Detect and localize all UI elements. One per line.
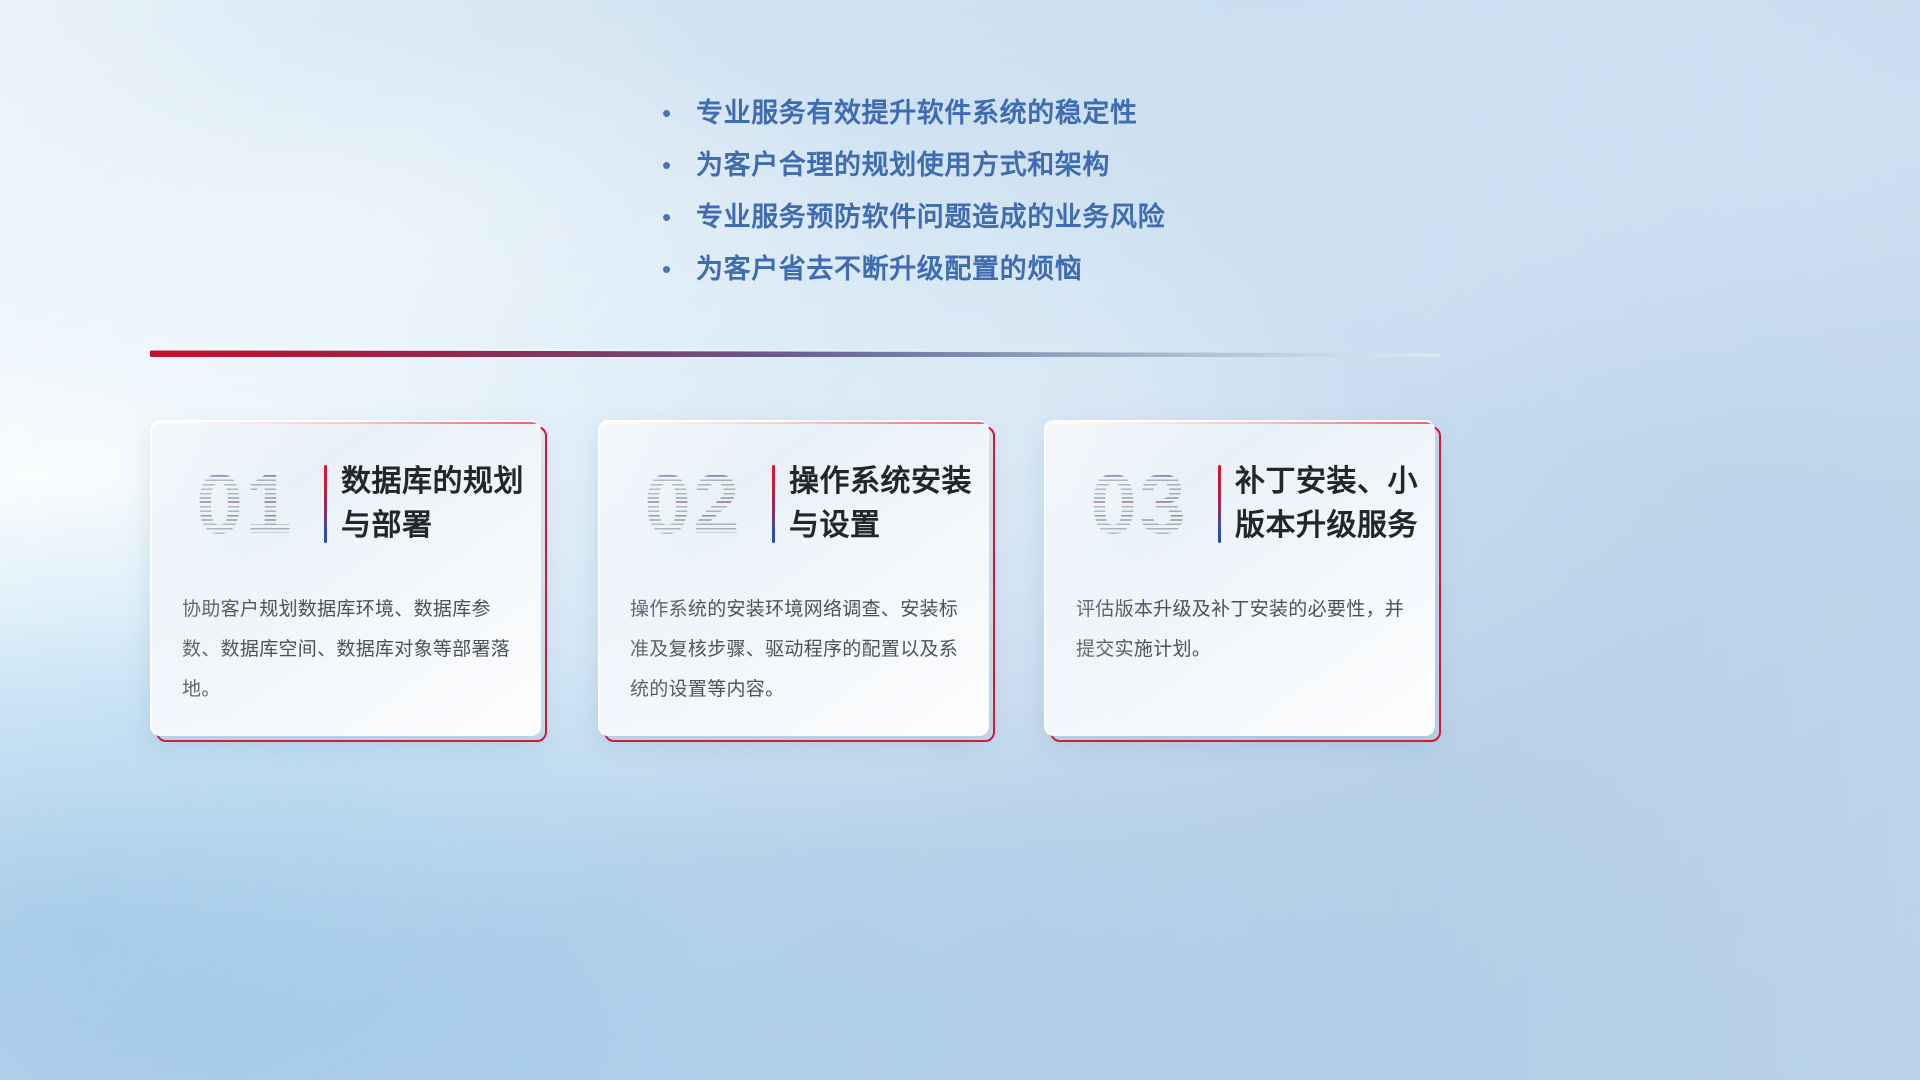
bullet-dot-icon: • (660, 248, 696, 290)
bullet-dot-icon: • (660, 196, 696, 238)
card-header: 01 01 数据库的规划与部署 (152, 444, 541, 564)
bullet-text: 为客户合理的规划使用方式和架构 (696, 144, 1110, 186)
card-description: 操作系统的安装环境网络调查、安装标准及复核步骤、驱动程序的配置以及系统的设置等内… (630, 590, 963, 710)
card-divider-bar (324, 465, 327, 543)
bullet-dot-icon: • (660, 144, 696, 186)
card-number: 01 (196, 462, 293, 546)
card-title: 操作系统安装与设置 (789, 460, 989, 548)
card-number-badge: 01 01 (170, 449, 320, 559)
card-surface: 03 03 补丁安装、小版本升级服务 评估版本升级及补丁安装的必要性，并提交实施… (1044, 420, 1435, 736)
card-number-badge: 03 03 (1064, 449, 1214, 559)
card-number: 03 (1090, 462, 1187, 546)
list-item: • 为客户合理的规划使用方式和架构 (660, 144, 1440, 196)
bullet-text: 为客户省去不断升级配置的烦恼 (696, 248, 1082, 290)
service-card-group: 01 01 数据库的规划与部署 协助客户规划数据库环境、数据库参数、数据库空间、… (150, 420, 1450, 750)
card-title: 补丁安装、小版本升级服务 (1235, 460, 1435, 548)
list-item: • 专业服务预防软件问题造成的业务风险 (660, 196, 1440, 248)
card-number-badge: 02 02 (618, 449, 768, 559)
card-divider-bar (772, 465, 775, 543)
divider-gradient-bar (150, 350, 1440, 357)
card-number: 02 (644, 462, 741, 546)
bullet-dot-icon: • (660, 92, 696, 134)
card-header: 02 02 操作系统安装与设置 (600, 444, 989, 564)
card-title: 数据库的规划与部署 (341, 460, 541, 548)
section-divider (150, 344, 1440, 366)
card-description: 协助客户规划数据库环境、数据库参数、数据库空间、数据库对象等部署落地。 (182, 590, 515, 710)
card-surface: 02 02 操作系统安装与设置 操作系统的安装环境网络调查、安装标准及复核步骤、… (598, 420, 989, 736)
list-item: • 为客户省去不断升级配置的烦恼 (660, 248, 1440, 300)
card-surface: 01 01 数据库的规划与部署 协助客户规划数据库环境、数据库参数、数据库空间、… (150, 420, 541, 736)
card-header: 03 03 补丁安装、小版本升级服务 (1046, 444, 1435, 564)
service-card-02[interactable]: 02 02 操作系统安装与设置 操作系统的安装环境网络调查、安装标准及复核步骤、… (598, 420, 989, 736)
bullet-text: 专业服务有效提升软件系统的稳定性 (696, 92, 1138, 134)
list-item: • 专业服务有效提升软件系统的稳定性 (660, 92, 1440, 144)
card-divider-bar (1218, 465, 1221, 543)
divider-highlight (150, 348, 1440, 351)
card-description: 评估版本升级及补丁安装的必要性，并提交实施计划。 (1076, 590, 1409, 670)
benefits-bullet-list: • 专业服务有效提升软件系统的稳定性 • 为客户合理的规划使用方式和架构 • 专… (660, 92, 1440, 300)
service-card-01[interactable]: 01 01 数据库的规划与部署 协助客户规划数据库环境、数据库参数、数据库空间、… (150, 420, 541, 736)
slide-canvas: • 专业服务有效提升软件系统的稳定性 • 为客户合理的规划使用方式和架构 • 专… (0, 0, 1920, 1080)
bullet-text: 专业服务预防软件问题造成的业务风险 (696, 196, 1165, 238)
service-card-03[interactable]: 03 03 补丁安装、小版本升级服务 评估版本升级及补丁安装的必要性，并提交实施… (1044, 420, 1435, 736)
